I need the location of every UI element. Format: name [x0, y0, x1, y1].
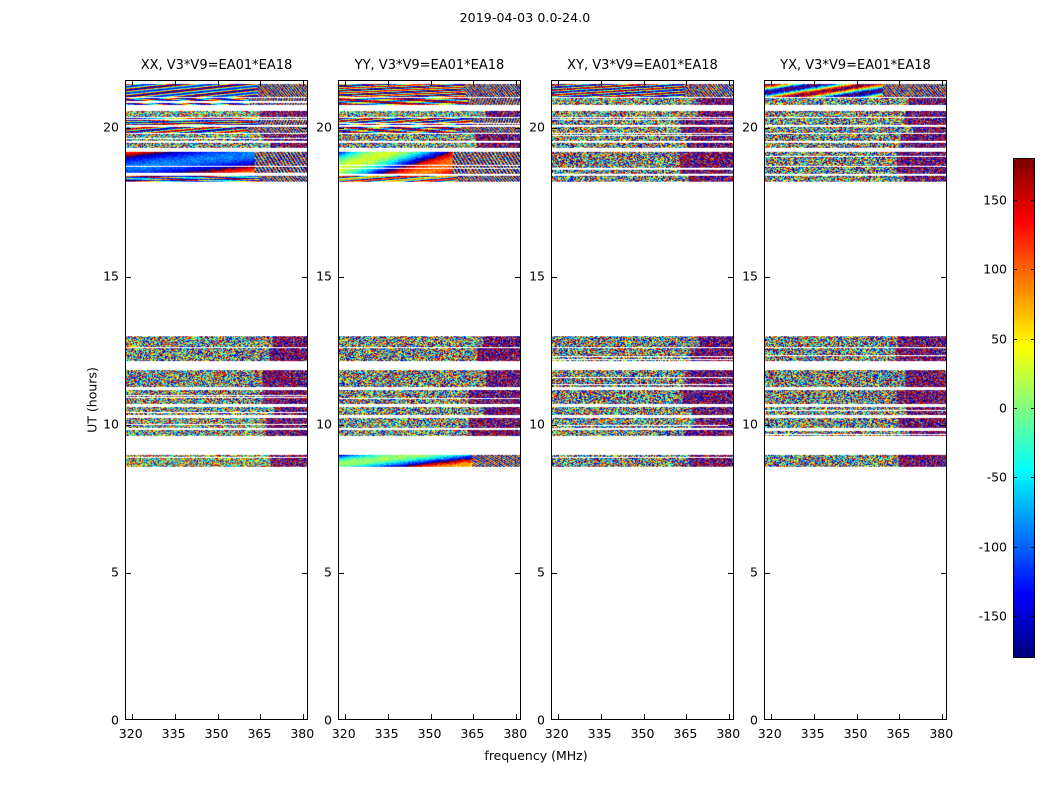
y-tick: [765, 573, 770, 574]
axes-frame-yy: [338, 80, 521, 720]
x-tick-label: 380: [503, 726, 527, 741]
axes-frame-yx: [764, 80, 947, 720]
y-tick: [339, 277, 344, 278]
colorbar-tick: [1013, 269, 1017, 270]
x-tick: [899, 81, 900, 86]
colorbar-tick-label: 100: [967, 262, 1007, 277]
x-tick: [175, 714, 176, 719]
x-tick: [132, 714, 133, 719]
colorbar-tick-label: 50: [967, 331, 1007, 346]
x-tick-label: 380: [929, 726, 953, 741]
x-tick-label: 350: [631, 726, 655, 741]
x-tick-label: 320: [332, 726, 356, 741]
y-tick: [126, 425, 131, 426]
panel-yx[interactable]: YX, V3*V9=EA01*EA18: [764, 80, 947, 720]
panel-title-yx: YX, V3*V9=EA01*EA18: [780, 58, 931, 73]
x-tick: [942, 714, 943, 719]
y-tick-label: 5: [730, 564, 758, 579]
waterfall-image-yx: [765, 81, 946, 719]
y-tick-label: 10: [304, 416, 332, 431]
y-tick-label: 15: [91, 268, 119, 283]
y-tick-label: 5: [91, 564, 119, 579]
waterfall-image-yy: [339, 81, 520, 719]
colorbar-tick: [1031, 547, 1035, 548]
y-tick: [941, 128, 946, 129]
y-tick-label: 5: [517, 564, 545, 579]
x-tick: [473, 714, 474, 719]
y-tick: [339, 128, 344, 129]
y-tick-label: 20: [91, 120, 119, 135]
x-tick: [899, 714, 900, 719]
x-tick-label: 350: [205, 726, 229, 741]
y-tick-label: 20: [517, 120, 545, 135]
colorbar-tick: [1013, 477, 1017, 478]
y-tick: [339, 425, 344, 426]
y-tick: [126, 128, 131, 129]
x-tick: [857, 714, 858, 719]
x-tick-label: 335: [588, 726, 612, 741]
colorbar-tick: [1031, 408, 1035, 409]
x-tick: [601, 81, 602, 86]
colorbar-tick-label: -150: [967, 609, 1007, 624]
x-tick: [558, 81, 559, 86]
y-tick-label: 20: [730, 120, 758, 135]
x-tick: [771, 714, 772, 719]
x-tick-label: 335: [801, 726, 825, 741]
x-tick: [644, 714, 645, 719]
x-tick-label: 320: [119, 726, 143, 741]
x-tick: [644, 81, 645, 86]
panel-title-yy: YY, V3*V9=EA01*EA18: [355, 58, 505, 73]
colorbar-tick: [1013, 339, 1017, 340]
x-tick-label: 320: [545, 726, 569, 741]
x-tick: [814, 81, 815, 86]
x-tick-label: 350: [844, 726, 868, 741]
y-tick-label: 0: [517, 713, 545, 728]
x-tick: [218, 81, 219, 86]
x-tick-label: 335: [162, 726, 186, 741]
y-tick: [765, 128, 770, 129]
colorbar-tick: [1013, 616, 1017, 617]
y-tick: [765, 425, 770, 426]
x-tick: [942, 81, 943, 86]
y-tick-label: 20: [304, 120, 332, 135]
x-tick: [431, 81, 432, 86]
x-tick: [388, 714, 389, 719]
figure-canvas: 2019-04-03 0.0-24.0 32033535036538005101…: [0, 0, 1050, 800]
colorbar-tick: [1031, 477, 1035, 478]
x-tick: [303, 81, 304, 86]
y-tick: [552, 128, 557, 129]
x-tick-label: 365: [247, 726, 271, 741]
x-tick-label: 320: [758, 726, 782, 741]
y-tick-label: 10: [517, 416, 545, 431]
x-tick: [857, 81, 858, 86]
y-tick: [765, 277, 770, 278]
y-tick: [941, 573, 946, 574]
axes-frame-xx: [125, 80, 308, 720]
panel-xy[interactable]: XY, V3*V9=EA01*EA18: [551, 80, 734, 720]
colorbar-tick-label: 0: [967, 401, 1007, 416]
x-tick: [175, 81, 176, 86]
waterfall-image-xy: [552, 81, 733, 719]
panel-title-xx: XX, V3*V9=EA01*EA18: [141, 58, 293, 73]
colorbar-tick: [1013, 200, 1017, 201]
x-axis-label: frequency (MHz): [484, 748, 587, 763]
colorbar-tick: [1013, 408, 1017, 409]
colorbar-tick: [1031, 200, 1035, 201]
colorbar-tick: [1013, 547, 1017, 548]
x-tick-label: 380: [716, 726, 740, 741]
x-tick: [814, 714, 815, 719]
y-tick-label: 10: [730, 416, 758, 431]
x-tick-label: 380: [290, 726, 314, 741]
y-tick-label: 0: [91, 713, 119, 728]
y-tick-label: 0: [304, 713, 332, 728]
y-tick: [941, 277, 946, 278]
y-tick-label: 0: [730, 713, 758, 728]
x-tick: [601, 714, 602, 719]
x-tick: [473, 81, 474, 86]
x-tick: [132, 81, 133, 86]
x-tick: [729, 81, 730, 86]
colorbar-tick: [1031, 616, 1035, 617]
colorbar-tick-label: -100: [967, 539, 1007, 554]
y-tick-label: 15: [304, 268, 332, 283]
x-tick: [260, 81, 261, 86]
x-tick: [771, 81, 772, 86]
x-tick: [686, 81, 687, 86]
y-tick: [126, 277, 131, 278]
panel-title-xy: XY, V3*V9=EA01*EA18: [567, 58, 718, 73]
x-tick: [345, 714, 346, 719]
x-tick-label: 350: [418, 726, 442, 741]
x-tick-label: 365: [673, 726, 697, 741]
y-tick: [552, 573, 557, 574]
y-axis-label: UT (hours): [85, 367, 100, 433]
x-tick-label: 335: [375, 726, 399, 741]
waterfall-image-xx: [126, 81, 307, 719]
colorbar-tick-label: -50: [967, 470, 1007, 485]
colorbar-tick: [1031, 269, 1035, 270]
axes-frame-xy: [551, 80, 734, 720]
x-tick: [558, 714, 559, 719]
colorbar-tick-label: 150: [967, 192, 1007, 207]
panel-xx[interactable]: XX, V3*V9=EA01*EA18: [125, 80, 308, 720]
x-tick: [431, 714, 432, 719]
x-tick: [260, 714, 261, 719]
panel-yy[interactable]: YY, V3*V9=EA01*EA18: [338, 80, 521, 720]
y-tick-label: 15: [730, 268, 758, 283]
x-tick: [686, 714, 687, 719]
x-tick-label: 365: [460, 726, 484, 741]
y-tick: [552, 277, 557, 278]
y-tick-label: 5: [304, 564, 332, 579]
y-tick: [126, 573, 131, 574]
x-tick-label: 365: [886, 726, 910, 741]
y-tick: [339, 573, 344, 574]
y-tick: [941, 425, 946, 426]
x-tick: [345, 81, 346, 86]
x-tick: [388, 81, 389, 86]
x-tick: [516, 81, 517, 86]
y-tick-label: 15: [517, 268, 545, 283]
x-tick: [218, 714, 219, 719]
colorbar-tick: [1031, 339, 1035, 340]
y-tick: [552, 425, 557, 426]
figure-suptitle: 2019-04-03 0.0-24.0: [0, 10, 1050, 25]
